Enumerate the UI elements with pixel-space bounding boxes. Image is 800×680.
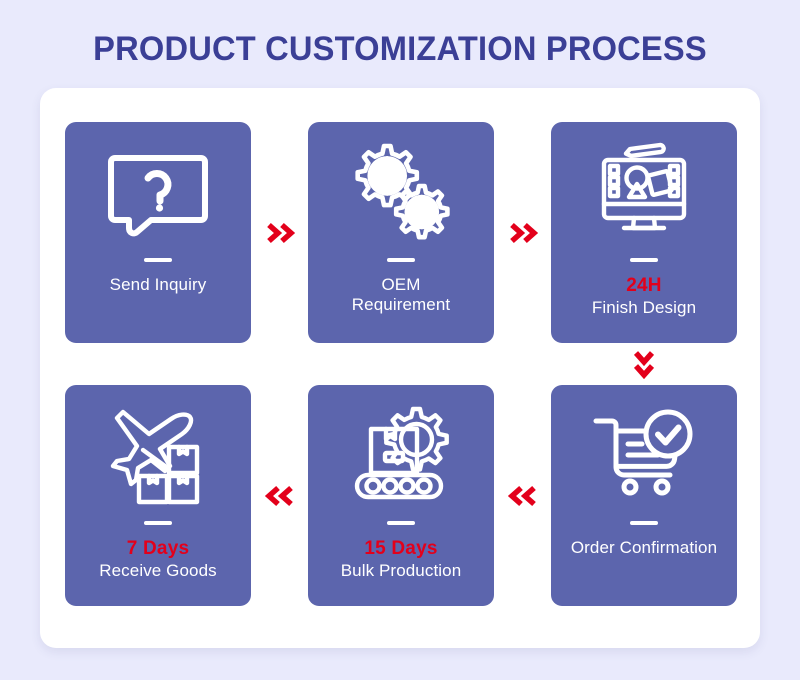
speech-bubble-question-icon xyxy=(65,122,251,256)
conveyor-gear-icon xyxy=(308,385,494,519)
card-labels: Send Inquiry xyxy=(65,275,251,295)
step-card-finish-design[interactable]: 24H Finish Design xyxy=(551,122,737,343)
page-title: PRODUCT CUSTOMIZATION PROCESS xyxy=(16,30,784,69)
airplane-boxes-icon xyxy=(65,385,251,519)
double-chevron-right-icon xyxy=(508,222,538,244)
card-labels: OEM Requirement xyxy=(308,275,494,314)
double-chevron-down-icon xyxy=(633,349,655,379)
card-divider xyxy=(630,258,658,262)
card-labels: Order Confirmation xyxy=(551,538,737,558)
card-divider xyxy=(387,258,415,262)
step-label: Send Inquiry xyxy=(71,275,245,295)
step-card-send-inquiry[interactable]: Send Inquiry xyxy=(65,122,251,343)
connector-production-to-receive xyxy=(251,385,308,606)
step-card-oem-requirement[interactable]: OEM Requirement xyxy=(308,122,494,343)
double-chevron-right-icon xyxy=(265,222,295,244)
step-label: OEM Requirement xyxy=(314,275,488,314)
step-card-bulk-production[interactable]: 15 Days Bulk Production xyxy=(308,385,494,606)
step-label: Bulk Production xyxy=(314,561,488,581)
process-steps-grid: Send Inquiry xyxy=(65,122,735,606)
card-labels: 24H Finish Design xyxy=(551,275,737,318)
step-lead-time: 24H xyxy=(557,275,731,297)
card-labels: 15 Days Bulk Production xyxy=(308,538,494,581)
step-lead-time: 7 Days xyxy=(71,538,245,560)
connector-design-to-order xyxy=(551,343,737,385)
connector-order-to-production xyxy=(494,385,551,606)
step-label: Order Confirmation xyxy=(557,538,731,558)
card-divider xyxy=(144,521,172,525)
double-chevron-left-icon xyxy=(508,485,538,507)
connector-oem-to-design xyxy=(494,122,551,343)
monitor-design-icon xyxy=(551,122,737,256)
card-divider xyxy=(630,521,658,525)
connector-inquiry-to-oem xyxy=(251,122,308,343)
card-labels: 7 Days Receive Goods xyxy=(65,538,251,581)
step-label: Receive Goods xyxy=(71,561,245,581)
infographic-root: PRODUCT CUSTOMIZATION PROCESS Send Inqui… xyxy=(0,0,800,680)
step-lead-time: 15 Days xyxy=(314,538,488,560)
card-divider xyxy=(387,521,415,525)
step-card-order-confirmation[interactable]: Order Confirmation xyxy=(551,385,737,606)
double-chevron-left-icon xyxy=(265,485,295,507)
step-label: Finish Design xyxy=(557,298,731,318)
cart-check-icon xyxy=(551,385,737,519)
step-card-receive-goods[interactable]: 7 Days Receive Goods xyxy=(65,385,251,606)
gears-icon xyxy=(308,122,494,256)
card-divider xyxy=(144,258,172,262)
